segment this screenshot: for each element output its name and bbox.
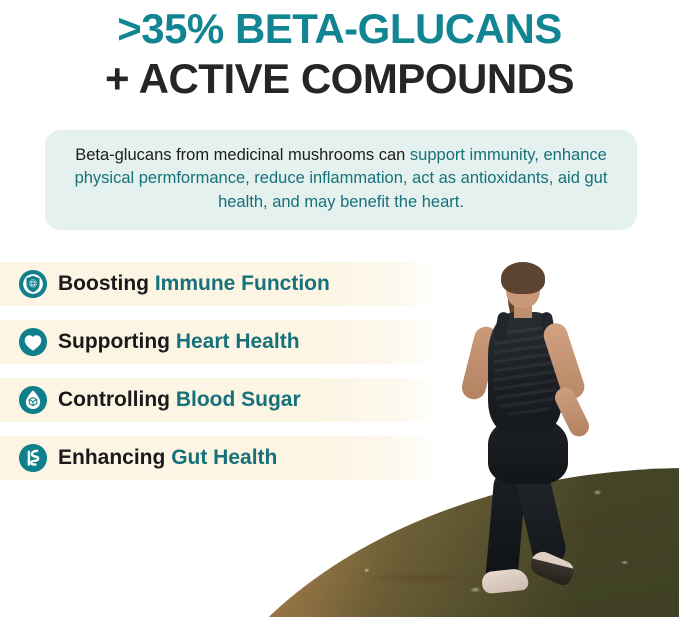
benefit-label: Boosting Immune Function <box>58 272 330 296</box>
runner-figure <box>452 260 602 590</box>
benefit-verb: Supporting <box>58 330 176 353</box>
tree-trunk <box>603 228 629 376</box>
benefit-accent: Immune Function <box>155 272 330 295</box>
benefit-label: Enhancing Gut Health <box>58 446 277 470</box>
benefit-label: Supporting Heart Health <box>58 330 300 354</box>
benefit-item-blood-sugar[interactable]: Controlling Blood Sugar <box>0 378 440 422</box>
headline: >35% BETA-GLUCANS + ACTIVE COMPOUNDS <box>0 0 679 103</box>
right-shoe <box>527 548 577 588</box>
hair <box>501 262 545 294</box>
benefit-verb: Enhancing <box>58 446 171 469</box>
benefit-accent: Heart Health <box>176 330 300 353</box>
headline-line-2: + ACTIVE COMPOUNDS <box>0 54 679 104</box>
benefit-item-immune-function[interactable]: Boosting Immune Function <box>0 262 440 306</box>
poster-canvas: >35% BETA-GLUCANS + ACTIVE COMPOUNDS Bet… <box>0 0 679 617</box>
benefit-accent: Blood Sugar <box>176 388 301 411</box>
benefit-verb: Boosting <box>58 272 155 295</box>
benefit-label: Controlling Blood Sugar <box>58 388 301 412</box>
heart-icon <box>18 327 48 357</box>
tree-trunk <box>650 228 668 353</box>
blood-drop-icon <box>18 385 48 415</box>
shield-plus-icon <box>18 269 48 299</box>
benefit-accent: Gut Health <box>171 446 277 469</box>
benefit-item-heart-health[interactable]: Supporting Heart Health <box>0 320 440 364</box>
benefit-verb: Controlling <box>58 388 176 411</box>
headline-line-1: >35% BETA-GLUCANS <box>0 4 679 54</box>
description-text: Beta-glucans from medicinal mushrooms ca… <box>63 144 619 214</box>
description-lead: Beta-glucans from medicinal mushrooms ca… <box>75 146 410 164</box>
description-box: Beta-glucans from medicinal mushrooms ca… <box>45 130 637 230</box>
benefits-list: Boosting Immune Function Supporting Hear… <box>0 262 440 494</box>
benefit-item-gut-health[interactable]: Enhancing Gut Health <box>0 436 440 480</box>
intestine-icon <box>18 443 48 473</box>
